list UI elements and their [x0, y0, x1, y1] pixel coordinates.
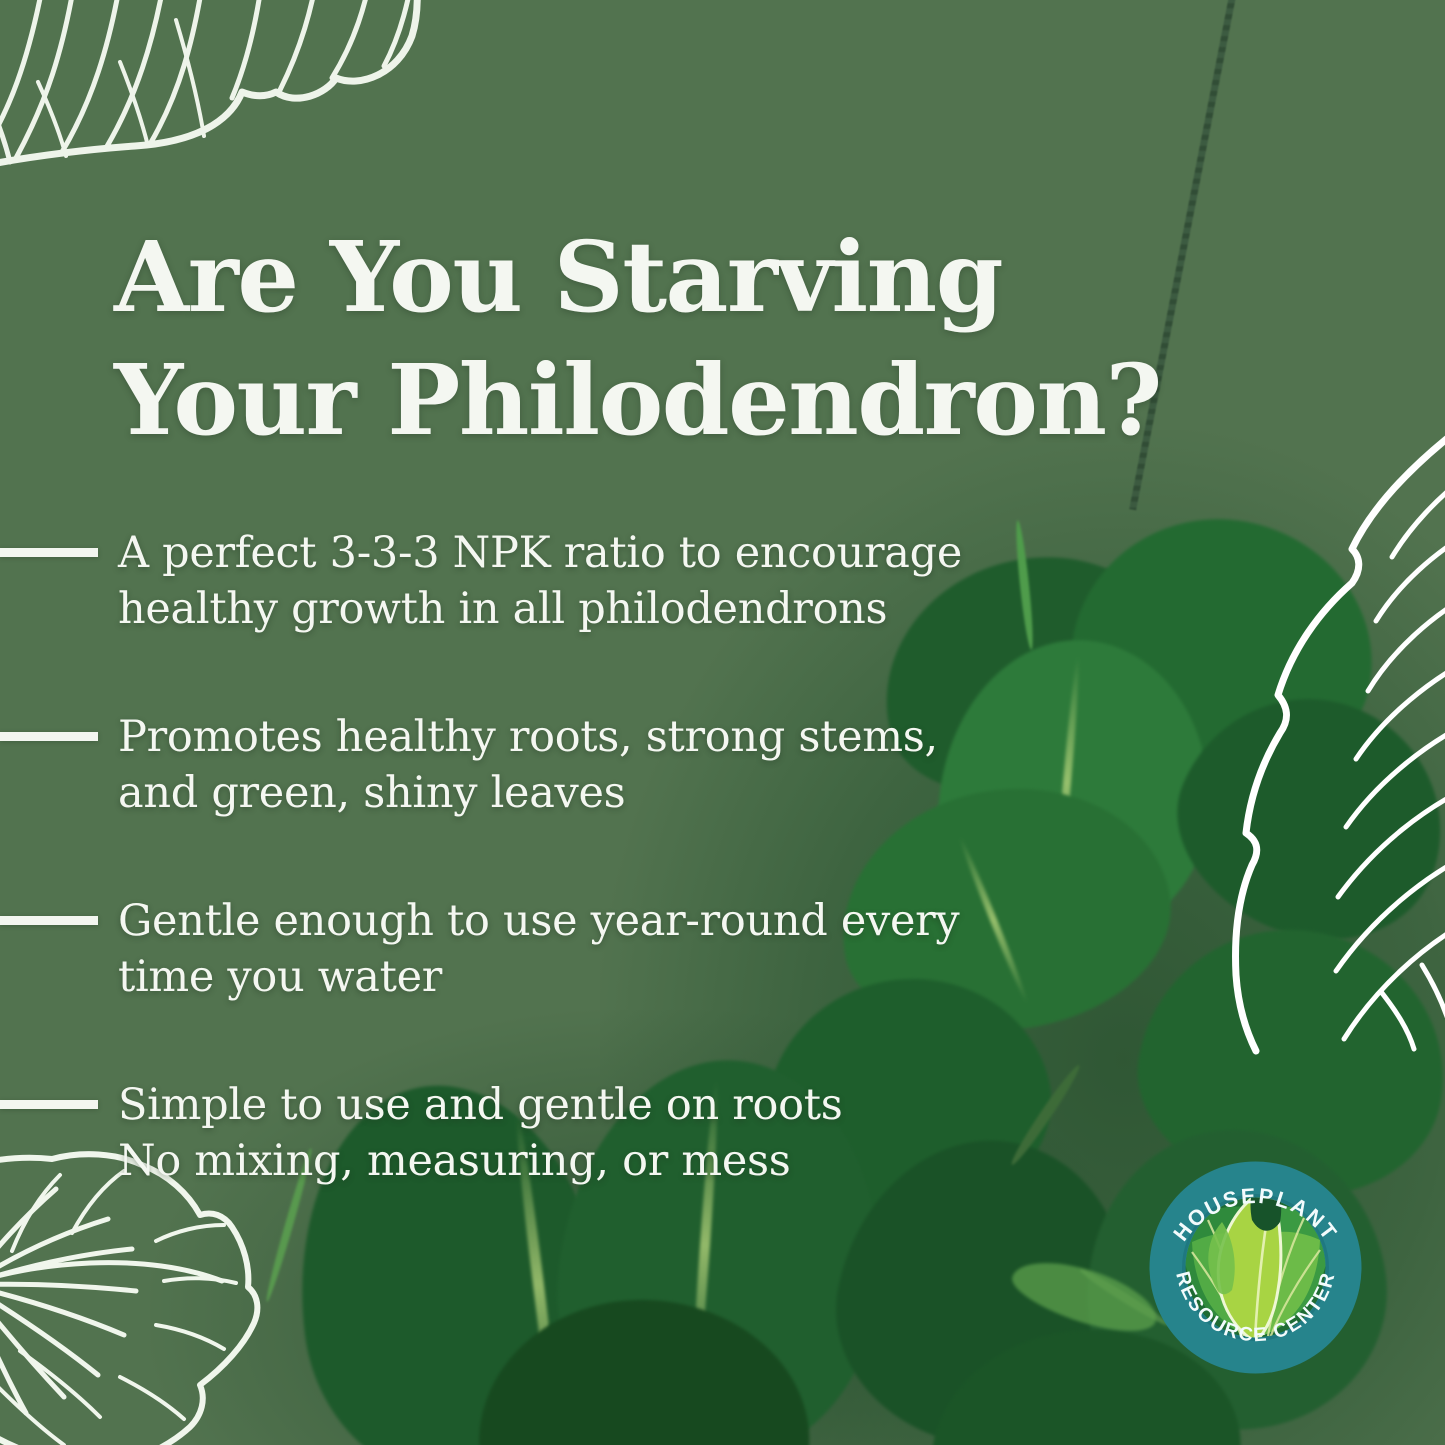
headline-line-1: Are You Starving	[114, 216, 1294, 339]
leaf-photo	[1006, 1248, 1165, 1344]
bullet-line-1: Promotes healthy roots, strong stems,	[118, 709, 1000, 765]
list-item: Simple to use and gentle on roots No mix…	[0, 1077, 1000, 1189]
list-item: Promotes healthy roots, strong stems, an…	[0, 709, 1000, 821]
dash-marker-icon	[0, 548, 98, 557]
bullet-line-2: and green, shiny leaves	[118, 765, 1000, 821]
bullet-line-2: healthy growth in all philodendrons	[118, 581, 1000, 637]
leaf-stem	[1013, 520, 1036, 650]
decorative-leaf-top-left	[0, 0, 450, 200]
benefits-list: A perfect 3-3-3 NPK ratio to encourage h…	[0, 525, 1000, 1189]
list-item: A perfect 3-3-3 NPK ratio to encourage h…	[0, 525, 1000, 637]
bullet-line-1: Simple to use and gentle on roots	[118, 1077, 1000, 1133]
bullet-line-2: time you water	[118, 949, 1000, 1005]
leaf-photo	[474, 1292, 817, 1445]
bullet-line-2: No mixing, measuring, or mess	[118, 1133, 1000, 1189]
leaf-stem	[1007, 1062, 1083, 1168]
leaf-photo	[1146, 659, 1445, 976]
leaf-vein	[1052, 655, 1082, 910]
dash-marker-icon	[0, 732, 98, 741]
decorative-leaf-bottom-left	[0, 1145, 320, 1445]
page-title: Are You Starving Your Philodendron?	[114, 216, 1294, 462]
dash-marker-icon	[0, 916, 98, 925]
list-item: Gentle enough to use year-round every ti…	[0, 893, 1000, 1005]
dash-marker-icon	[0, 1100, 98, 1109]
decorative-leaf-right	[1232, 445, 1445, 1045]
promo-poster: Are You Starving Your Philodendron? A pe…	[0, 0, 1445, 1445]
bullet-line-1: A perfect 3-3-3 NPK ratio to encourage	[118, 525, 1000, 581]
headline-line-2: Your Philodendron?	[114, 339, 1294, 462]
bullet-line-1: Gentle enough to use year-round every	[118, 893, 1000, 949]
houseplant-resource-center-logo: HOUSEPLANT RESOURCE CENTER	[1148, 1160, 1363, 1375]
leaf-photo	[1051, 489, 1400, 800]
